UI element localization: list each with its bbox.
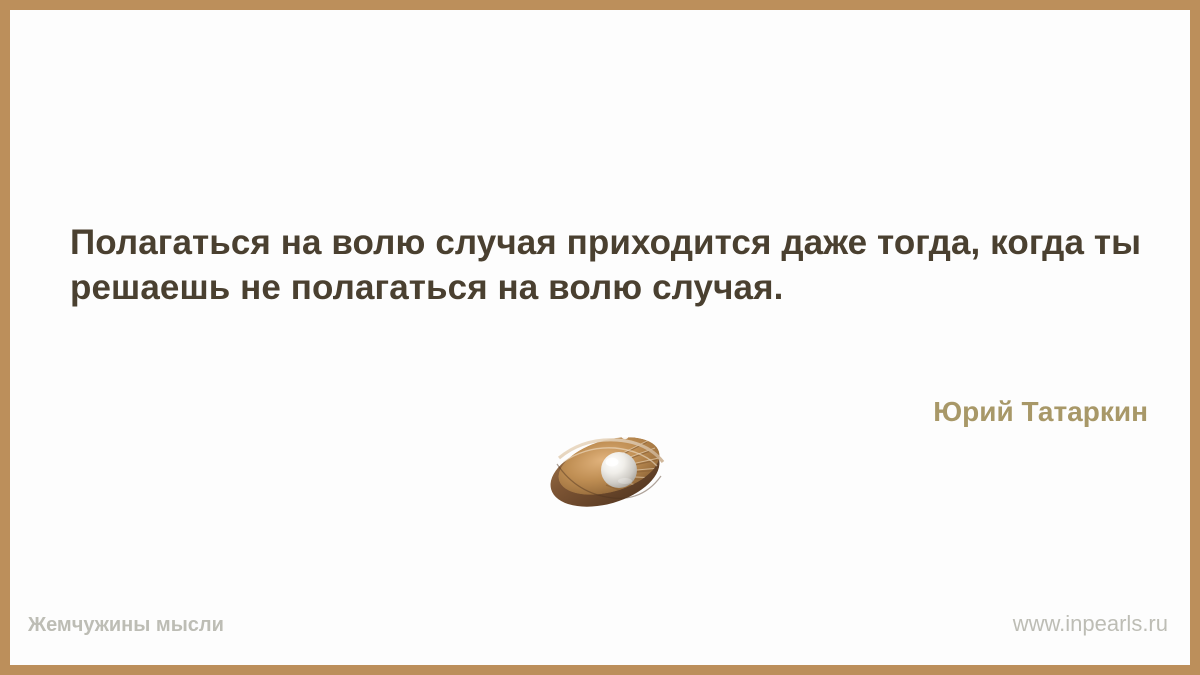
site-url[interactable]: www.inpearls.ru xyxy=(1013,611,1168,637)
quote-card: Полагаться на волю случая приходится даж… xyxy=(0,0,1200,675)
quote-block: Полагаться на волю случая приходится даж… xyxy=(70,220,1160,310)
seashell-with-pearl-icon xyxy=(543,428,675,510)
site-name: Жемчужины мысли xyxy=(28,614,224,637)
quote-author: Юрий Татаркин xyxy=(933,396,1148,428)
quote-text: Полагаться на волю случая приходится даж… xyxy=(70,220,1160,310)
